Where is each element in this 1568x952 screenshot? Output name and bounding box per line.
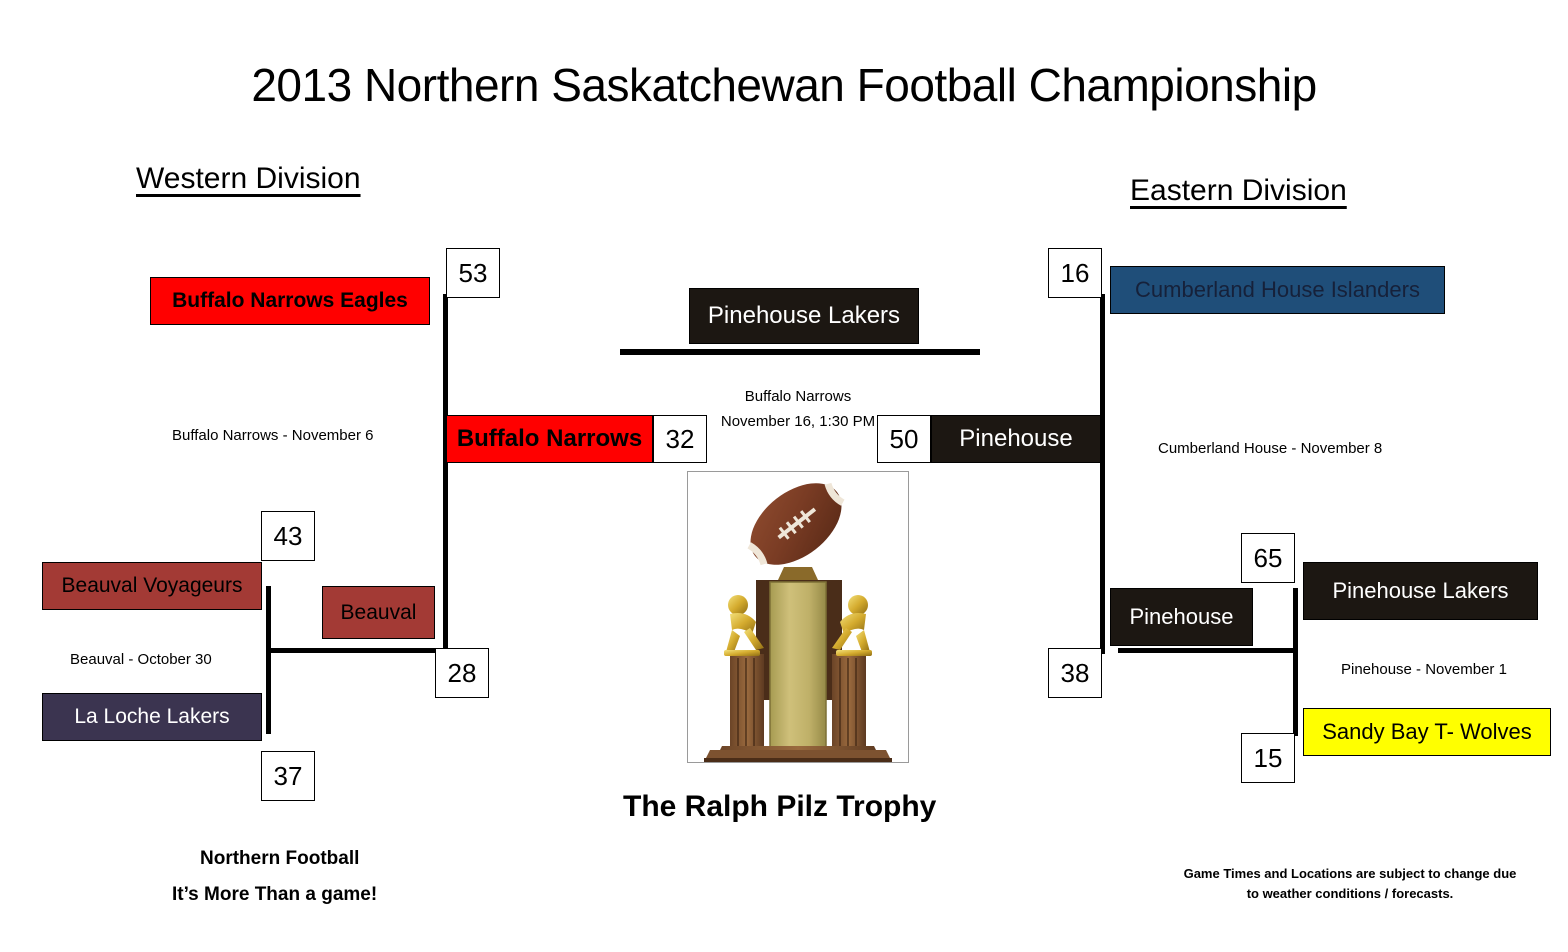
score-box-buffalo-narrows[interactable]: 32 xyxy=(653,415,707,463)
footer-disclaimer-line1: Game Times and Locations are subject to … xyxy=(1155,866,1545,881)
east-final-caption: Cumberland House - November 8 xyxy=(1158,440,1382,457)
footer-slogan-line2: It’s More Than a game! xyxy=(172,884,377,906)
score-value: 38 xyxy=(1061,658,1090,689)
team-box-pinehouse-east-winner[interactable]: Pinehouse xyxy=(1110,588,1253,646)
team-name: Cumberland House Islanders xyxy=(1135,277,1420,303)
score-value: 65 xyxy=(1254,543,1283,574)
score-value: 37 xyxy=(274,761,303,792)
score-value: 43 xyxy=(274,521,303,552)
team-name: Pinehouse xyxy=(959,425,1072,453)
team-name: Sandy Bay T- Wolves xyxy=(1322,719,1532,745)
score-box-la-loche-lakers[interactable]: 37 xyxy=(261,751,315,801)
score-value: 15 xyxy=(1254,743,1283,774)
team-box-beauval[interactable]: Beauval xyxy=(322,586,435,639)
championship-datetime: November 16, 1:30 PM xyxy=(708,413,888,430)
team-box-la-loche-lakers[interactable]: La Loche Lakers xyxy=(42,693,262,741)
score-box-beauval[interactable]: 28 xyxy=(435,648,489,698)
score-box-sandy-bay-t-wolves[interactable]: 15 xyxy=(1241,733,1295,783)
footer-disclaimer-line2: to weather conditions / forecasts. xyxy=(1155,886,1545,901)
team-box-pinehouse-final[interactable]: Pinehouse xyxy=(931,415,1101,463)
trophy-caption: The Ralph Pilz Trophy xyxy=(623,790,936,824)
team-box-buffalo-narrows[interactable]: Buffalo Narrows xyxy=(446,415,653,463)
score-value: 50 xyxy=(890,424,919,455)
team-name: Pinehouse Lakers xyxy=(1332,578,1508,604)
team-box-beauval-voyageurs[interactable]: Beauval Voyageurs xyxy=(42,562,262,610)
championship-location: Buffalo Narrows xyxy=(708,388,888,405)
west-final-caption: Buffalo Narrows - November 6 xyxy=(172,427,373,444)
score-box-pinehouse-east-winner[interactable]: 38 xyxy=(1048,648,1102,698)
page-title: 2013 Northern Saskatchewan Football Cham… xyxy=(0,58,1568,112)
east-inner-connector-line xyxy=(1293,588,1298,736)
team-name: Buffalo Narrows Eagles xyxy=(172,289,408,313)
score-box-beauval-voyageurs[interactable]: 43 xyxy=(261,511,315,561)
west-outer-connector-line xyxy=(443,294,448,680)
score-value: 32 xyxy=(666,424,695,455)
team-name: Beauval Voyageurs xyxy=(62,574,243,598)
east-outer-connector-line xyxy=(1100,294,1105,654)
score-box-pinehouse-lakers-east[interactable]: 65 xyxy=(1241,533,1295,583)
eastern-division-heading: Eastern Division xyxy=(1130,174,1347,208)
trophy-illustration xyxy=(688,472,908,762)
western-division-heading: Western Division xyxy=(136,162,361,196)
team-box-cumberland-house-islanders[interactable]: Cumberland House Islanders xyxy=(1110,266,1445,314)
team-box-pinehouse-lakers-east[interactable]: Pinehouse Lakers xyxy=(1303,562,1538,620)
score-box-pinehouse-final[interactable]: 50 xyxy=(877,415,931,463)
team-box-sandy-bay-t-wolves[interactable]: Sandy Bay T- Wolves xyxy=(1303,708,1551,756)
east-round1-caption: Pinehouse - November 1 xyxy=(1341,661,1507,678)
score-value: 28 xyxy=(448,658,477,689)
champion-underline xyxy=(620,349,980,355)
west-round1-caption: Beauval - October 30 xyxy=(70,651,212,668)
east-inner-horizontal-line xyxy=(1118,648,1298,653)
football-icon xyxy=(735,472,856,581)
team-name: Buffalo Narrows xyxy=(457,425,642,453)
champion-name: Pinehouse Lakers xyxy=(708,302,900,330)
champion-box-pinehouse-lakers[interactable]: Pinehouse Lakers xyxy=(689,288,919,344)
score-box-buffalo-narrows-eagles[interactable]: 53 xyxy=(446,248,500,298)
team-name: La Loche Lakers xyxy=(74,705,229,729)
score-box-cumberland-house-islanders[interactable]: 16 xyxy=(1048,248,1102,298)
west-inner-connector-line xyxy=(266,586,271,734)
score-value: 53 xyxy=(459,258,488,289)
footer-slogan-line1: Northern Football xyxy=(200,848,359,870)
trophy-image-frame xyxy=(687,471,909,763)
team-name: Pinehouse xyxy=(1130,604,1234,630)
west-inner-horizontal-line xyxy=(266,648,446,653)
team-name: Beauval xyxy=(341,601,417,625)
team-box-buffalo-narrows-eagles[interactable]: Buffalo Narrows Eagles xyxy=(150,277,430,325)
score-value: 16 xyxy=(1061,258,1090,289)
